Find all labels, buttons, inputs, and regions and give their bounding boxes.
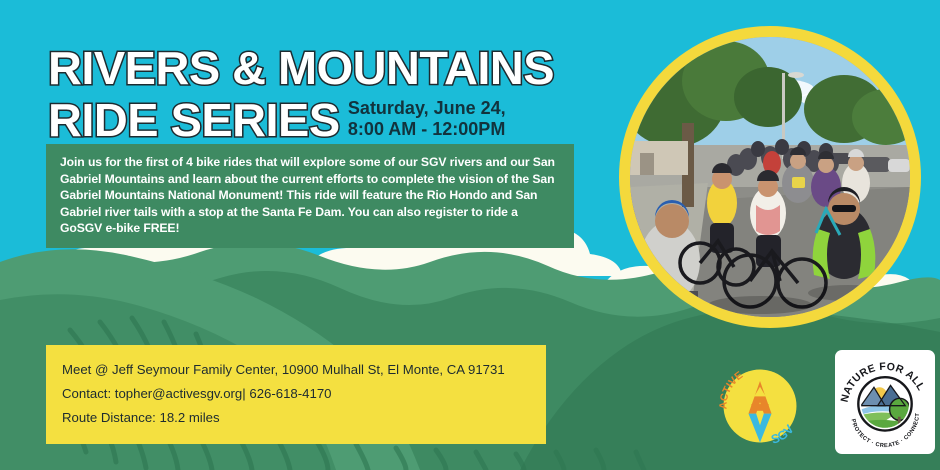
description-panel: Join us for the first of 4 bike rides th… [46, 144, 574, 248]
headline-block: RIVERS & MOUNTAINS RIDE SERIES Saturday,… [48, 42, 578, 146]
active-sgv-logo[interactable]: ACTIVE SGV [712, 358, 808, 454]
event-time: 8:00 AM - 12:00PM [348, 119, 506, 140]
title-line-1: RIVERS & MOUNTAINS [48, 42, 589, 94]
event-date: Saturday, June 24, [348, 98, 506, 119]
nature-for-all-logo[interactable]: NATURE FOR ALL PROTECT · CREATE · CONNEC… [835, 350, 935, 454]
route-distance-line: Route Distance: 18.2 miles [62, 406, 530, 430]
contact-line[interactable]: Contact: topher@activesgv.org| 626-618-4… [62, 382, 530, 406]
event-date-block: Saturday, June 24, 8:00 AM - 12:00PM [348, 98, 506, 146]
cyclists-photo [630, 37, 910, 317]
event-details-panel: Meet @ Jeff Seymour Family Center, 10900… [46, 345, 546, 444]
title-line-2: RIDE SERIES [48, 94, 340, 146]
event-flyer: RIVERS & MOUNTAINS RIDE SERIES Saturday,… [0, 0, 940, 470]
photo-ring [619, 26, 921, 328]
description-text: Join us for the first of 4 bike rides th… [60, 154, 560, 237]
meeting-location-line: Meet @ Jeff Seymour Family Center, 10900… [62, 358, 530, 382]
